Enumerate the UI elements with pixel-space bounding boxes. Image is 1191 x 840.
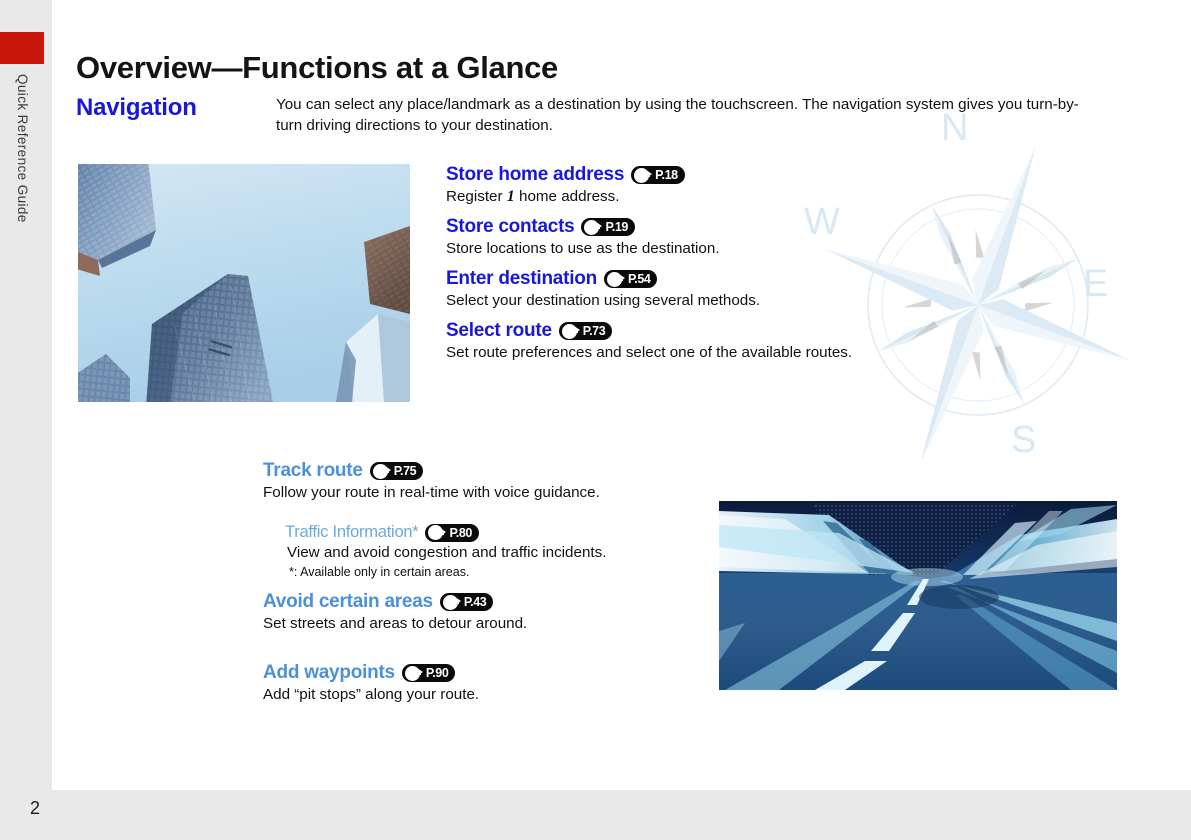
desc-emphasis: 1: [507, 188, 515, 205]
feature-heading: Store contacts P.19: [446, 216, 916, 238]
page-number: 2: [30, 798, 40, 819]
feature-enter-destination: Enter destination P.54 Select your desti…: [446, 268, 916, 311]
feature-avoid-certain-areas: Avoid certain areas P.43 Set streets and…: [263, 591, 713, 634]
feature-traffic-information: Traffic Information* P.80 View and avoid…: [285, 523, 713, 579]
tunnel-illustration: [719, 501, 1117, 690]
feature-footnote: *: Available only in certain areas.: [289, 565, 713, 579]
feature-heading: Select route P.73: [446, 320, 916, 342]
arrow-right-icon: [584, 220, 599, 235]
arrow-right-icon: [443, 595, 458, 610]
page-ref-badge[interactable]: P.19: [581, 218, 635, 236]
desc-after: home address.: [515, 188, 620, 205]
feature-heading: Add waypoints P.90: [263, 662, 713, 684]
feature-list-bottom: Track route P.75 Follow your route in re…: [263, 458, 713, 714]
feature-description: Set route preferences and select one of …: [446, 343, 916, 363]
feature-add-waypoints: Add waypoints P.90 Add “pit stops” along…: [263, 662, 713, 705]
feature-title: Store contacts: [446, 216, 574, 238]
page-ref-badge[interactable]: P.43: [440, 593, 494, 611]
arrow-right-icon: [634, 168, 649, 183]
page-ref-number: P.43: [464, 595, 487, 609]
feature-title: Avoid certain areas: [263, 591, 433, 613]
spacer: [263, 643, 713, 660]
arrow-right-icon: [405, 666, 420, 681]
page-ref-badge[interactable]: P.54: [604, 270, 658, 288]
page-title: Overview—Functions at a Glance: [76, 50, 558, 86]
feature-store-contacts: Store contacts P.19 Store locations to u…: [446, 216, 916, 259]
arrow-right-icon: [607, 272, 622, 287]
page-ref-number: P.73: [583, 324, 606, 338]
feature-description: View and avoid congestion and traffic in…: [287, 543, 713, 563]
page-ref-badge[interactable]: P.73: [559, 322, 613, 340]
feature-title: Store home address: [446, 164, 624, 186]
section-title: Navigation: [76, 94, 197, 122]
page-ref-badge[interactable]: P.90: [402, 664, 456, 682]
feature-store-home-address: Store home address P.18 Register 1 home …: [446, 164, 916, 207]
page-ref-number: P.54: [628, 272, 651, 286]
highway-tunnel-photo: [719, 501, 1117, 690]
feature-select-route: Select route P.73 Set route preferences …: [446, 320, 916, 363]
page-ref-number: P.90: [426, 666, 449, 680]
feature-title: Traffic Information*: [285, 523, 418, 542]
feature-description: Add “pit stops” along your route.: [263, 685, 713, 705]
feature-heading: Avoid certain areas P.43: [263, 591, 713, 613]
manual-page: Quick Reference Guide: [0, 0, 1191, 840]
arrow-right-icon: [373, 464, 388, 479]
side-tab-label: Quick Reference Guide: [15, 74, 30, 118]
feature-list-top: Store home address P.18 Register 1 home …: [446, 162, 916, 372]
page-ref-number: P.80: [449, 526, 472, 540]
feature-description: Select your destination using several me…: [446, 291, 916, 311]
feature-title: Track route: [263, 460, 363, 482]
feature-heading: Enter destination P.54: [446, 268, 916, 290]
spacer: [263, 512, 713, 521]
feature-heading: Traffic Information* P.80: [285, 523, 713, 542]
feature-heading: Track route P.75: [263, 460, 713, 482]
page-ref-badge[interactable]: P.80: [425, 524, 479, 542]
feature-track-route: Track route P.75 Follow your route in re…: [263, 460, 713, 503]
feature-description: Follow your route in real-time with voic…: [263, 483, 713, 503]
arrow-right-icon: [562, 324, 577, 339]
page-ref-badge[interactable]: P.18: [631, 166, 685, 184]
page-ref-badge[interactable]: P.75: [370, 462, 424, 480]
side-tab: Quick Reference Guide: [0, 0, 52, 840]
page-ref-number: P.75: [394, 464, 417, 478]
feature-description: Store locations to use as the destinatio…: [446, 239, 916, 259]
feature-title: Select route: [446, 320, 552, 342]
page-ref-number: P.18: [655, 168, 678, 182]
feature-heading: Store home address P.18: [446, 164, 916, 186]
skyscrapers-illustration: [78, 164, 410, 402]
intro-paragraph: You can select any place/landmark as a d…: [276, 94, 1102, 136]
feature-title: Add waypoints: [263, 662, 395, 684]
side-tab-accent-block: [0, 32, 44, 64]
desc-before: Register: [446, 188, 507, 205]
feature-title: Enter destination: [446, 268, 597, 290]
feature-description: Set streets and areas to detour around.: [263, 614, 713, 634]
feature-description: Register 1 home address.: [446, 187, 916, 207]
skyscrapers-photo: [78, 164, 410, 402]
arrow-right-icon: [428, 525, 443, 540]
page-ref-number: P.19: [605, 220, 628, 234]
